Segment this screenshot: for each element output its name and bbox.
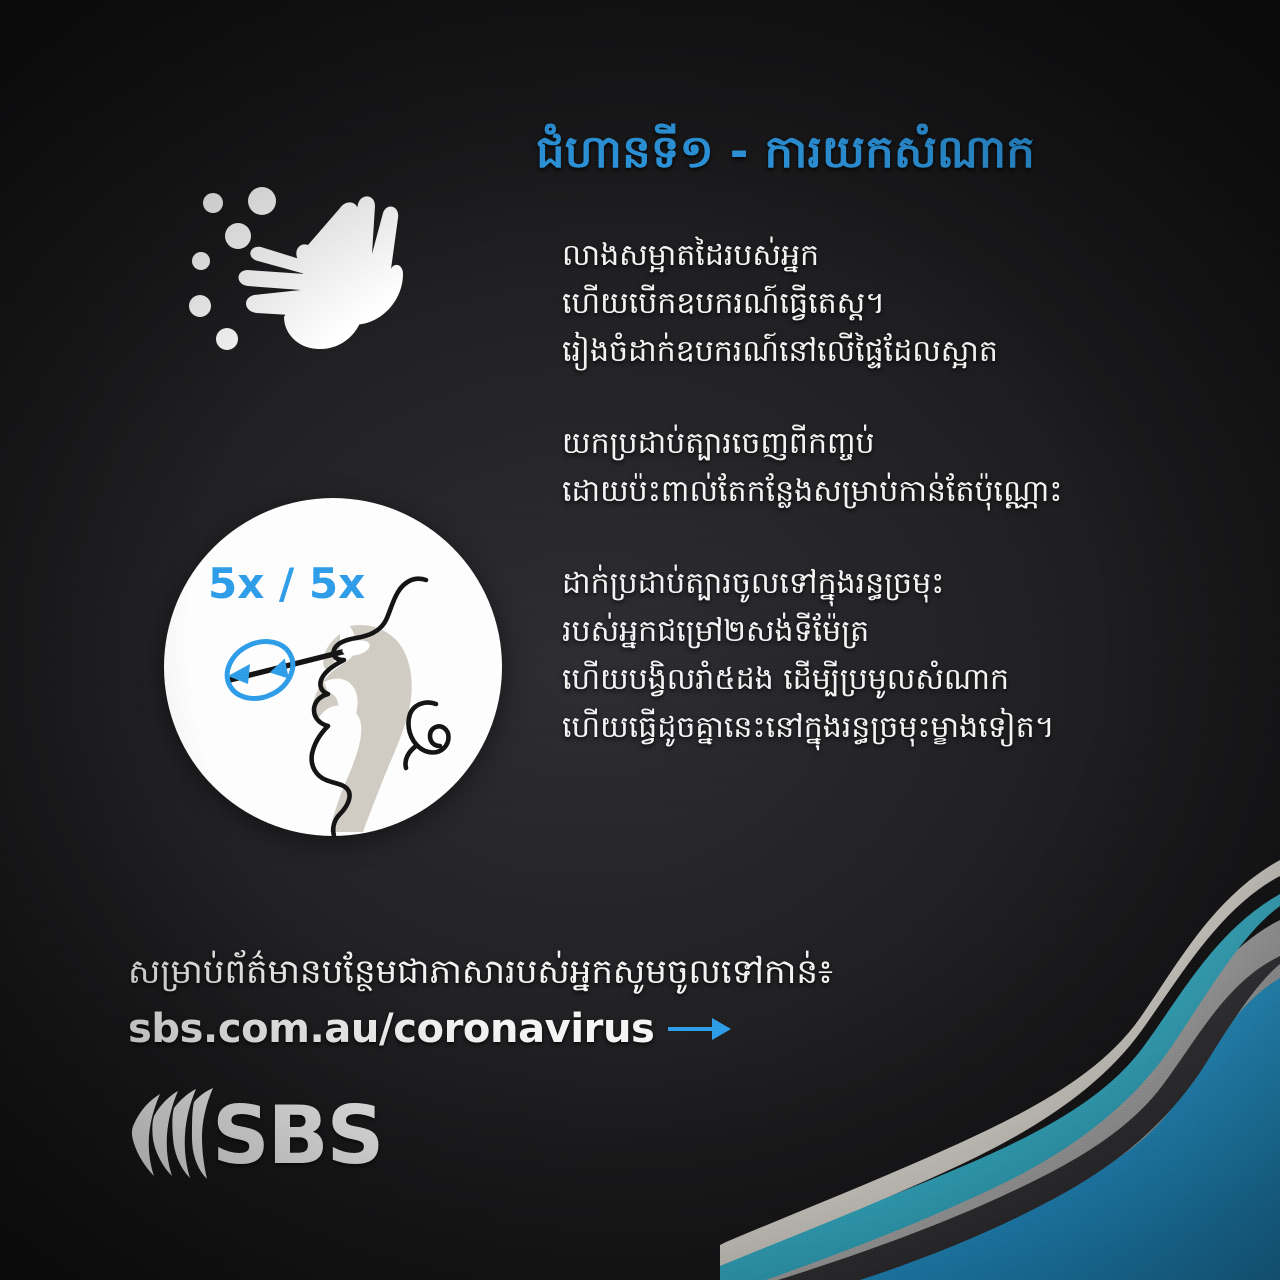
instruction-line: លាងសម្អាតដៃរបស់អ្នក [562,232,1252,280]
page-title: ជំហានទី១ - ការយកសំណាក [536,126,1236,178]
step-paragraph-insert-swab: ដាក់ប្រដាប់ត្បារចូលទៅក្នុងរន្ធច្រមុះ របស… [562,560,1252,752]
repetitions-label: 5x / 5x [208,559,365,608]
step-paragraph-remove-swab: យកប្រដាប់ត្បារចេញពីកញ្ចប់ ដោយប៉ះពាល់តែកន… [562,420,1252,516]
footer-url-row[interactable]: sbs.com.au/coronavirus [128,1006,1128,1052]
instruction-line: របស់អ្នកជម្រៅ២សង់ទីម៉ែត្រ [562,608,1252,656]
arrow-right-icon [668,1014,732,1044]
footer: សម្រាប់ព័ត៌មានបន្ថែមជាភាសារបស់អ្នកសូមចូល… [128,950,1128,1052]
instruction-line: ហើយបង្វិលរាំ៥ដង ដើម្បីប្រមូលសំណាក [562,656,1252,704]
website-url[interactable]: sbs.com.au/coronavirus [128,1006,654,1052]
sbs-logo: SBS [120,1090,382,1182]
instruction-line: ដាក់ប្រដាប់ត្បារចូលទៅក្នុងរន្ធច្រមុះ [562,560,1252,608]
nasal-swab-diagram-icon: 5x / 5x [164,498,502,836]
instruction-line: រៀងចំដាក់ឧបករណ៍នៅលើផ្ទៃដែលស្អាត [562,328,1252,376]
sbs-wave-logo-icon [120,1088,216,1184]
poster-canvas: 5x / 5x ជំហានទី១ - ការយកសំណាក លាងសម្អាតដ… [0,0,1280,1280]
instruction-line: ហើយបើកឧបករណ៍ធ្វើតេស្ត។ [562,280,1252,328]
washing-hands-icon [172,168,408,384]
footer-khmer-text: សម្រាប់ព័ត៌មានបន្ថែមជាភាសារបស់អ្នកសូមចូល… [128,950,1128,994]
instruction-line: ដោយប៉ះពាល់តែកន្លែងសម្រាប់កាន់តែប៉ុណ្ណោះ [562,468,1252,516]
instruction-line: យកប្រដាប់ត្បារចេញពីកញ្ចប់ [562,420,1252,468]
instruction-line: ហើយធ្វើដូចគ្នានេះនៅក្នុងរន្ធច្រមុះម្ខាងទ… [562,704,1252,752]
sbs-wordmark: SBS [212,1096,382,1176]
step-paragraph-wash-hands: លាងសម្អាតដៃរបស់អ្នក ហើយបើកឧបករណ៍ធ្វើតេស្… [562,232,1252,376]
decorative-waves [720,860,1280,1280]
instructions-column: លាងសម្អាតដៃរបស់អ្នក ហើយបើកឧបករណ៍ធ្វើតេស្… [562,232,1252,752]
